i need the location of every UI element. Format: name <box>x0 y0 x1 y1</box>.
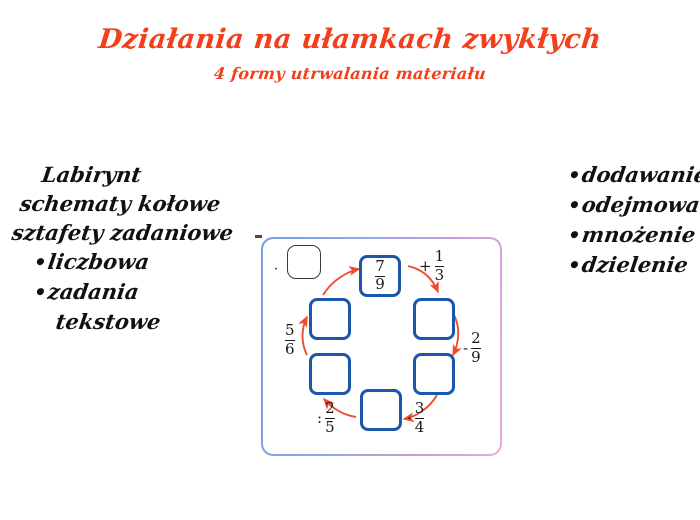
box-right-lower[interactable] <box>413 353 455 395</box>
list-item: schematy kołowe <box>0 189 254 218</box>
fraction-five-sixths: 5 6 <box>285 323 295 358</box>
list-item-label: schematy kołowe <box>18 189 222 218</box>
fraction-three-quarters: 3 4 <box>415 401 425 436</box>
box-left-upper[interactable] <box>309 298 351 340</box>
list-item: sztafety zadaniowe <box>0 218 254 247</box>
lead-dot: · <box>274 262 278 277</box>
list-item: • odejmowanie <box>566 190 700 220</box>
fraction-two-fifths: 2 5 <box>325 401 335 436</box>
list-item-label: dzielenie <box>580 250 690 279</box>
list-item: • liczbowa <box>0 247 254 277</box>
page-title: Działania na ułamkach zwykłych <box>0 24 700 55</box>
fraction-one-third: 1 3 <box>435 249 445 284</box>
fraction-two-ninths: 2 9 <box>471 331 481 366</box>
list-item-label: mnożenie <box>580 220 697 249</box>
arrow-start-to-top <box>323 269 359 295</box>
diagram-inner: · 7 9 + 1 <box>261 237 502 456</box>
list-item-label: Labirynt <box>40 160 143 189</box>
operation-subtract: - 2 9 <box>463 331 481 366</box>
operation-divide: : 2 5 <box>317 401 335 436</box>
page-subtitle: 4 formy utrwalania materiału <box>0 64 700 83</box>
slide-canvas: Działania na ułamkach zwykłych 4 formy u… <box>0 0 700 520</box>
list-item-label: odejmowanie <box>580 190 700 219</box>
list-item-label: zadania <box>46 277 141 306</box>
box-left-lower[interactable] <box>309 353 351 395</box>
list-item: tekstowe <box>0 307 254 336</box>
fraction-chain-diagram-panel[interactable]: · 7 9 + 1 <box>261 237 502 456</box>
box-right-upper[interactable] <box>413 298 455 340</box>
arrow-left-lower-to-upper <box>303 317 308 355</box>
operation-left: 5 6 <box>282 323 295 358</box>
box-bottom[interactable] <box>360 389 402 431</box>
list-item: • mnożenie <box>566 220 700 250</box>
list-item: • zadania <box>0 277 254 307</box>
operation-multiply: · 3 4 <box>407 401 424 436</box>
list-item-label: dodawanie <box>580 160 700 189</box>
list-item: • dzielenie <box>566 250 700 280</box>
list-item: • dodawanie <box>566 160 700 190</box>
list-item-label: liczbowa <box>46 247 151 276</box>
right-operations-list: • dodawanie • odejmowanie • mnożenie • d… <box>568 160 700 280</box>
start-ghost-box[interactable] <box>287 245 321 279</box>
fraction-seven-ninths: 7 9 <box>375 259 385 293</box>
list-item: Labirynt <box>0 160 254 189</box>
left-topic-list: Labirynt schematy kołowe sztafety zadani… <box>0 160 252 336</box>
list-item-label: tekstowe <box>54 307 163 336</box>
list-item-label: sztafety zadaniowe <box>10 218 235 247</box>
box-top-value[interactable]: 7 9 <box>359 255 401 297</box>
operation-add: + 1 3 <box>419 249 444 284</box>
